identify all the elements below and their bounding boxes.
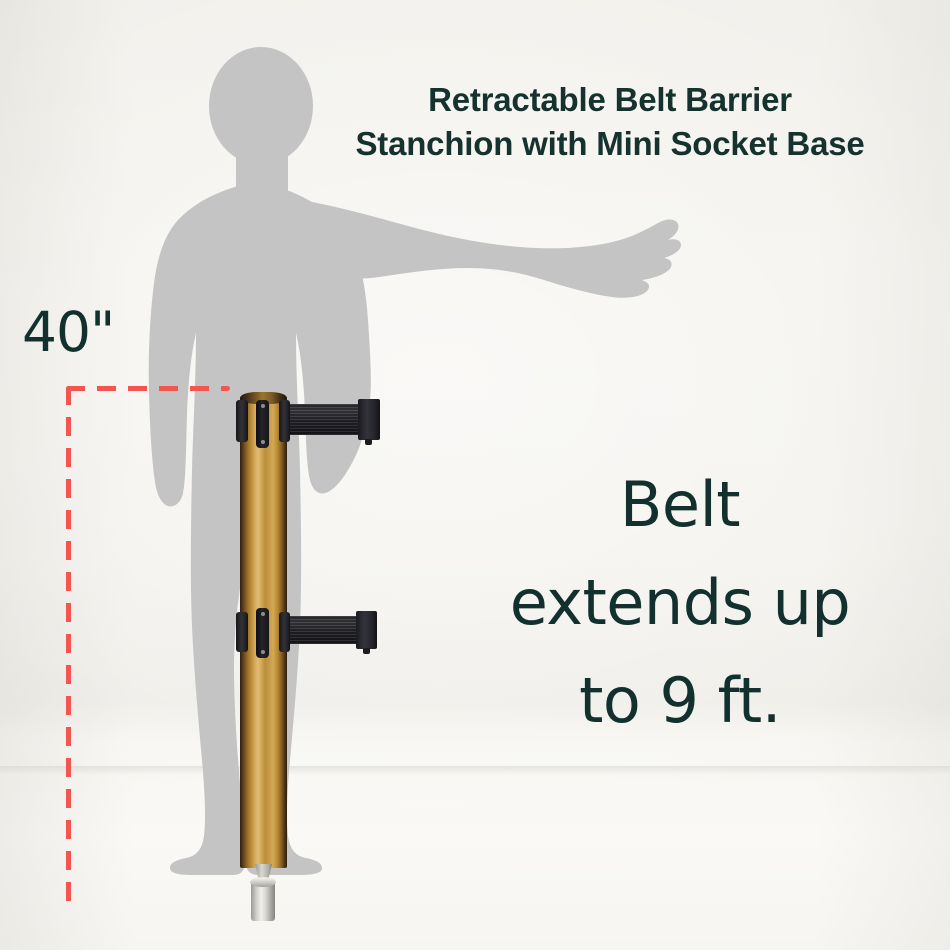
- lower-belt-webbing: [286, 616, 360, 644]
- belt-length-callout: Belt extends up to 9 ft.: [430, 456, 930, 750]
- lower-cassette-left-housing: [236, 612, 248, 652]
- lower-cassette-screw-top: [261, 612, 265, 616]
- callout-line-3: to 9 ft.: [430, 652, 930, 750]
- page-title-line-2: Stanchion with Mini Socket Base: [280, 122, 940, 166]
- lower-belt-end-clip: [356, 611, 377, 649]
- page-title: Retractable Belt Barrier Stanchion with …: [280, 78, 940, 165]
- height-measurement-label: 40": [22, 300, 114, 364]
- mini-socket-base-rim: [250, 877, 276, 887]
- upper-cassette-screw-top: [261, 404, 265, 408]
- mini-socket-base: [251, 881, 275, 921]
- upper-belt-end-clip: [358, 399, 380, 440]
- upper-cassette-screw-bottom: [261, 440, 265, 444]
- callout-line-2: extends up: [430, 554, 930, 652]
- page-title-line-1: Retractable Belt Barrier: [280, 78, 940, 122]
- upper-belt-webbing: [286, 404, 362, 435]
- infographic-canvas: 40" Retractable Belt Barrier Stanc: [0, 0, 950, 950]
- callout-line-1: Belt: [430, 456, 930, 554]
- lower-belt-clip-nub: [363, 648, 370, 654]
- height-guide-horizontal-dashed-line: [66, 386, 230, 391]
- lower-cassette-screw-bottom: [261, 650, 265, 654]
- upper-cassette-right-housing: [279, 400, 290, 442]
- lower-cassette-right-housing: [279, 612, 290, 652]
- height-guide-vertical-dashed-line: [66, 386, 71, 904]
- upper-cassette-left-housing: [236, 400, 248, 442]
- upper-belt-clip-nub: [365, 439, 372, 445]
